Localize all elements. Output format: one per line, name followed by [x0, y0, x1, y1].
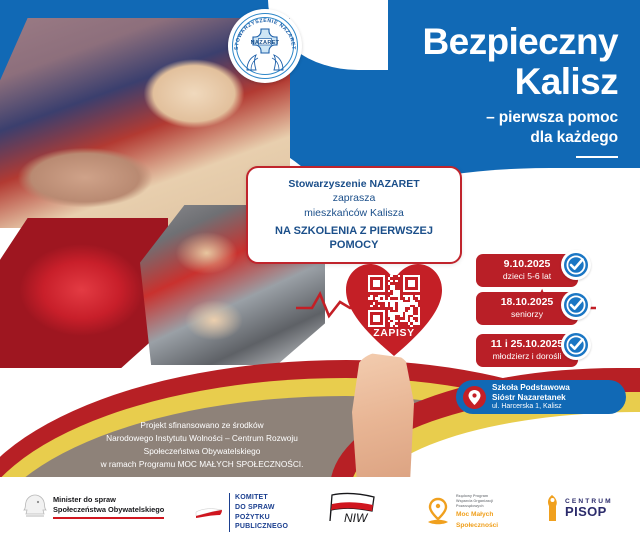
nazaret-logo: STOWARZYSZENIE NAZARET NAZARET [228, 9, 302, 83]
location-text: Szkoła Podstawowa Sióstr Nazaretanek ul.… [492, 383, 570, 412]
logo-moc-malych-spolecznosci: Rządowy Program Wsparcia Organizacji Poz… [425, 494, 498, 530]
hands-icon [243, 53, 287, 71]
moc-big-2: Społeczności [456, 522, 498, 531]
logo-pisop: CENTRUM PISOP [545, 495, 613, 521]
title-underline [576, 156, 618, 158]
poster-title: Bezpieczny Kalisz – pierwsza pomoc dla k… [326, 22, 618, 158]
polish-eagle-icon [22, 493, 48, 521]
committee-line-2: DO SPRAW [235, 503, 288, 513]
location-line-2: Sióstr Nazaretanek [492, 393, 570, 403]
invitation-bubble: Stowarzyszenie NAZARET zaprasza mieszkań… [246, 166, 462, 264]
subtitle-line-2: dla każdego [326, 128, 618, 147]
committee-line-1: KOMITET [235, 493, 288, 503]
committee-line-3: POŻYTKU [235, 513, 288, 523]
check-icon-3 [561, 330, 591, 360]
qr-label: ZAPISY [344, 327, 444, 339]
footer-logos: Minister do spraw Społeczeństwa Obywatel… [0, 481, 640, 537]
location-line-1: Szkoła Podstawowa [492, 383, 570, 393]
check-icon-1 [561, 250, 591, 280]
funding-line-3: Społeczeństwa Obywatelskiego [52, 445, 352, 458]
pisop-mark-icon [545, 495, 560, 521]
invitation-line-2: zaprasza [256, 191, 452, 206]
ministry-line-2: Społeczeństwa Obywatelskiego [53, 505, 164, 515]
location-pill[interactable]: Szkoła Podstawowa Sióstr Nazaretanek ul.… [456, 380, 626, 414]
map-pin-icon [463, 386, 486, 409]
committee-line-4: PUBLICZNEGO [235, 522, 288, 532]
funding-line-2: Narodowego Instytutu Wolności – Centrum … [52, 432, 352, 445]
logo-niw: NIW [322, 491, 380, 527]
logo-ministry: Minister do spraw Społeczeństwa Obywatel… [22, 493, 164, 521]
pisop-line-2: PISOP [565, 505, 613, 518]
poster: STOWARZYSZENIE NAZARET NAZARET Bezpieczn… [0, 0, 640, 537]
logo-committee: KOMITET DO SPRAW POŻYTKU PUBLICZNEGO [194, 493, 288, 532]
moc-pin-icon [425, 497, 451, 527]
svg-text:NIW: NIW [344, 511, 369, 525]
funding-line-4: w ramach Programu MOC MAŁYCH SPOŁECZNOŚC… [52, 458, 352, 471]
check-icon-2 [561, 290, 591, 320]
funding-note: Projekt sfinansowano ze środków Narodowe… [52, 419, 352, 470]
funding-line-1: Projekt sfinansowano ze środków [52, 419, 352, 432]
photo-cpr-mask-case [0, 218, 168, 368]
subtitle-line-1: – pierwsza pomoc [326, 108, 618, 127]
location-line-3: ul. Harcerska 1, Kalisz [492, 403, 570, 412]
invitation-line-1: Stowarzyszenie NAZARET [256, 177, 452, 191]
logo-name-text: NAZARET [228, 40, 302, 46]
title-line-1: Bezpieczny [326, 22, 618, 62]
moc-small-3: Pozarządowych [456, 504, 498, 509]
niw-flag-icon: NIW [322, 491, 380, 527]
title-line-2: Kalisz [326, 62, 618, 102]
ministry-underline [53, 517, 164, 519]
ministry-line-1: Minister do spraw [53, 495, 164, 505]
invitation-line-4: NA SZKOLENIA Z PIERWSZEJ POMOCY [256, 224, 452, 253]
invitation-line-3: mieszkańców Kalisza [256, 206, 452, 221]
polish-flag-icon [194, 506, 224, 520]
moc-big-1: Moc Małych [456, 511, 498, 520]
qr-code[interactable] [368, 275, 420, 327]
